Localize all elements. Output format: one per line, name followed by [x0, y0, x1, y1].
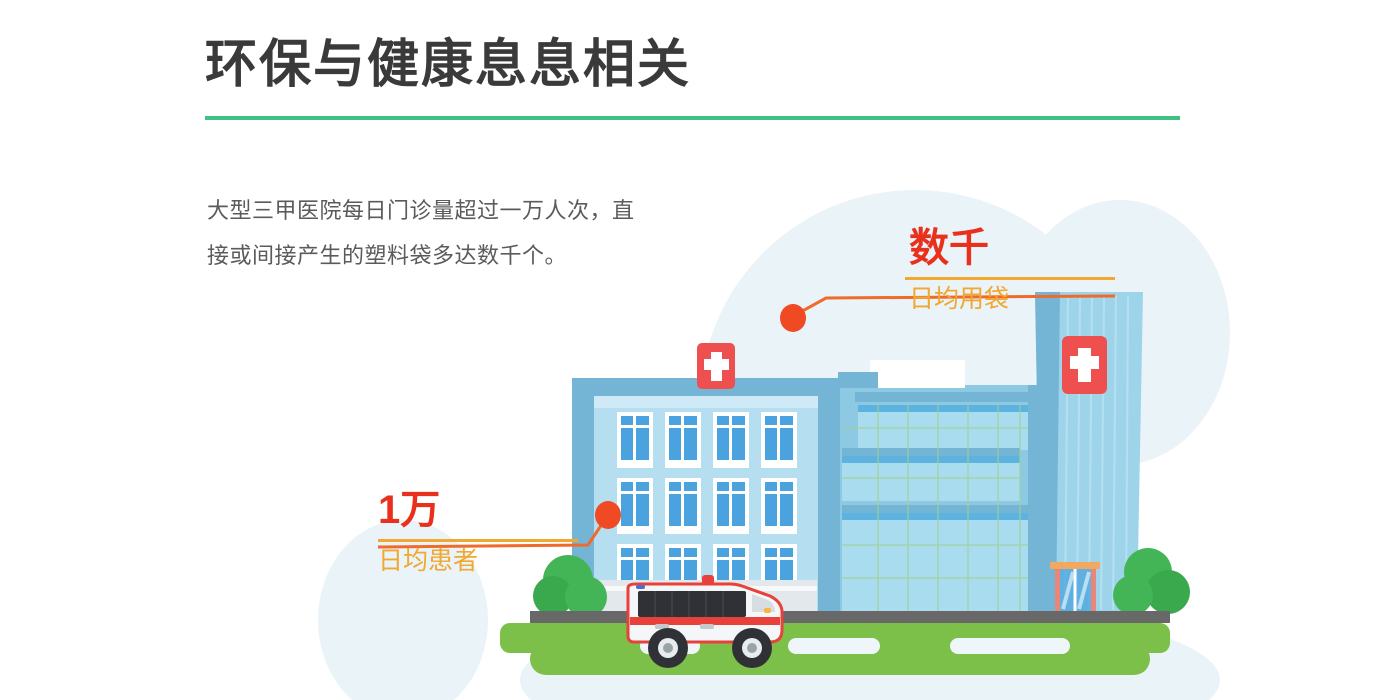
hospital-glass-wing — [838, 360, 1042, 612]
callout-patients-label: 日均患者 — [378, 546, 578, 576]
callout-patients-value: 1万 — [378, 490, 578, 530]
callout-patients: 1万 日均患者 — [378, 490, 578, 576]
page-title: 环保与健康息息相关 — [205, 22, 691, 97]
red-cross-sign-tower — [1062, 336, 1107, 394]
callout-bags: 数千 日均用袋 — [905, 228, 1115, 314]
callout-bags-value: 数千 — [905, 228, 1115, 268]
hospital-main-building — [572, 343, 840, 612]
title-underline — [205, 116, 1180, 120]
callout-patients-rule — [378, 539, 578, 542]
lawn — [500, 623, 1170, 675]
callout-bags-label: 日均用袋 — [905, 284, 1115, 314]
callout-bags-rule — [905, 277, 1115, 280]
slide-canvas: 环保与健康息息相关 大型三甲医院每日门诊量超过一万人次，直接或间接产生的塑料袋多… — [0, 0, 1400, 700]
red-cross-sign-roof — [697, 343, 735, 389]
hospital-illustration — [0, 0, 1400, 700]
body-paragraph: 大型三甲医院每日门诊量超过一万人次，直接或间接产生的塑料袋多达数千个。 — [207, 188, 637, 278]
lane-dash — [788, 638, 880, 654]
tower-entrance — [1050, 562, 1100, 612]
window-grid — [592, 412, 797, 596]
road — [530, 611, 1170, 623]
lane-dash — [950, 638, 1070, 654]
